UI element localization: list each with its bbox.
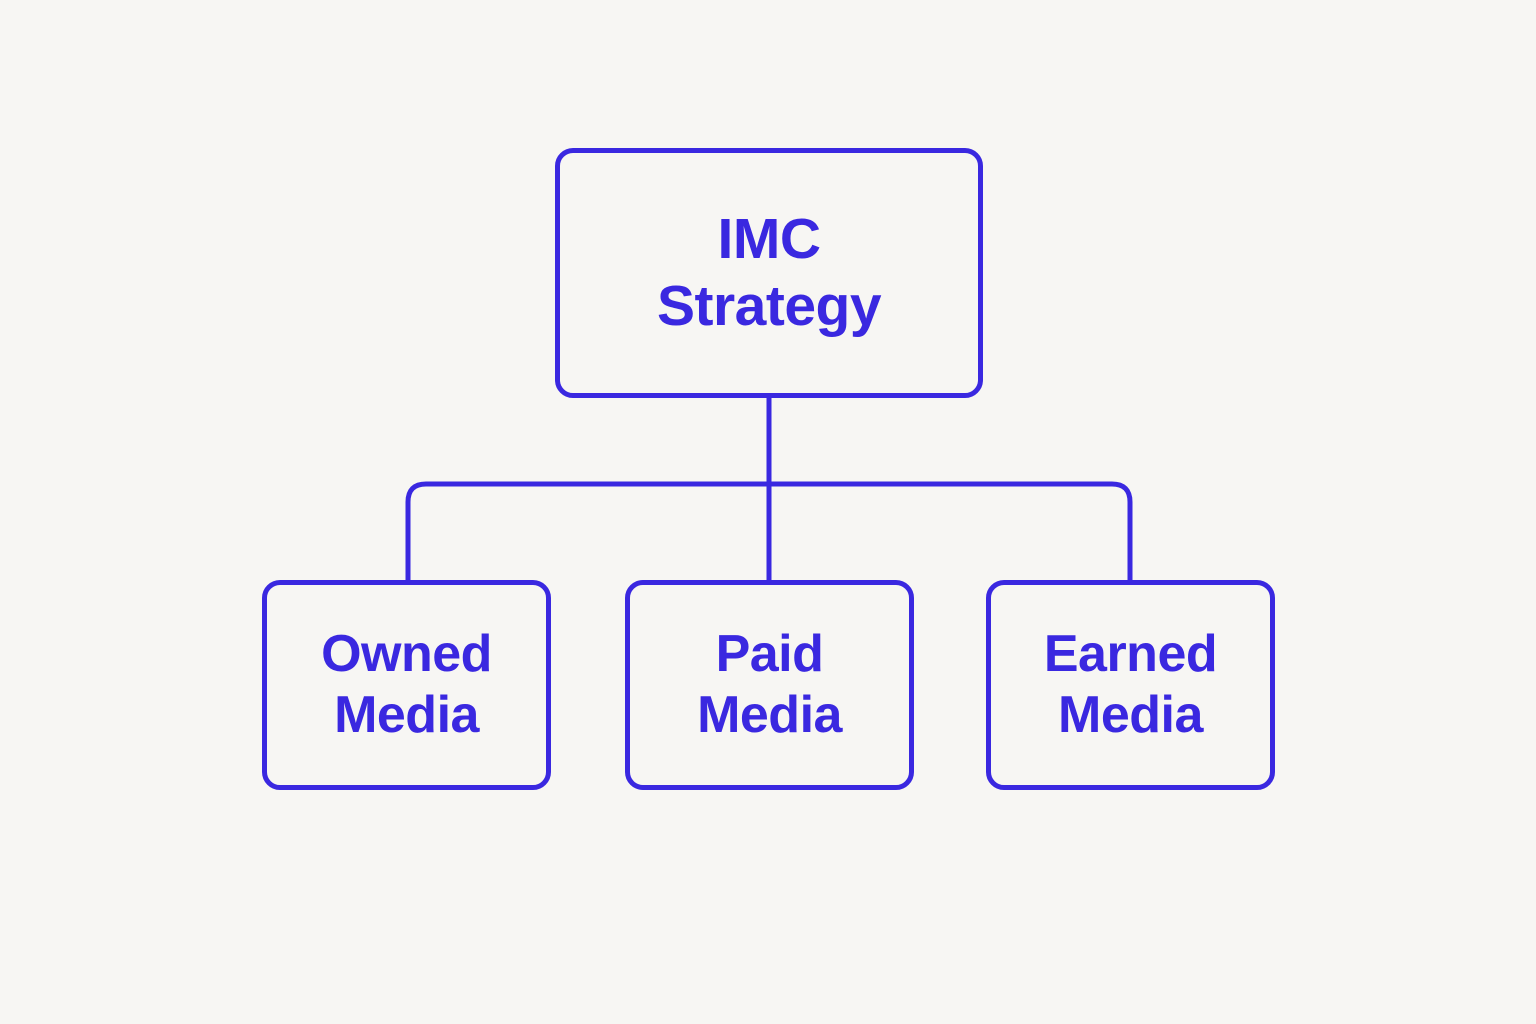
connector-branch-right <box>769 484 1130 580</box>
diagram-canvas: IMC Strategy Owned Media Paid Media Earn… <box>0 0 1536 1024</box>
node-imc-strategy-label: IMC Strategy <box>657 206 881 341</box>
node-owned-media[interactable]: Owned Media <box>262 580 551 790</box>
node-imc-strategy[interactable]: IMC Strategy <box>555 148 983 398</box>
connector-branch-left <box>408 484 769 580</box>
node-paid-media-label: Paid Media <box>697 624 842 747</box>
node-paid-media[interactable]: Paid Media <box>625 580 914 790</box>
node-owned-media-label: Owned Media <box>321 624 492 747</box>
node-earned-media-label: Earned Media <box>1044 624 1217 747</box>
node-earned-media[interactable]: Earned Media <box>986 580 1275 790</box>
